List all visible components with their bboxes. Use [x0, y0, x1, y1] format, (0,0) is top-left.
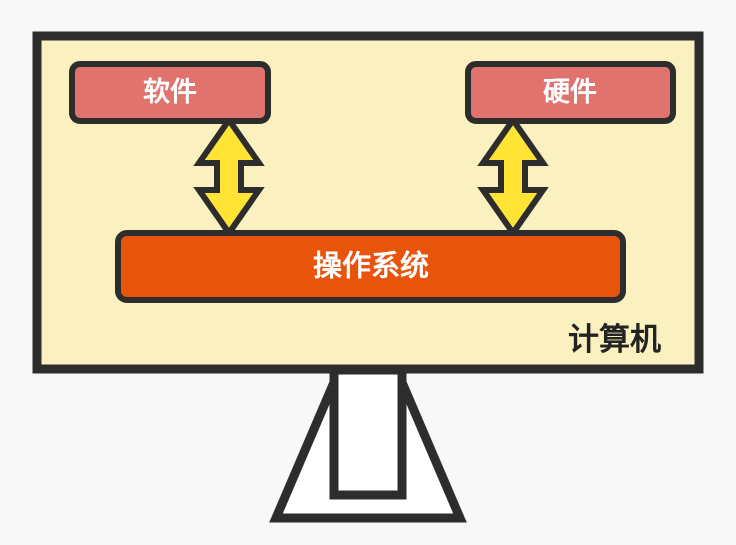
operating-system-label: 操作系统 — [313, 249, 429, 283]
node-software[interactable]: 软件 — [72, 64, 268, 121]
node-operating-system[interactable]: 操作系统 — [118, 233, 623, 300]
computer-caption: 计算机 — [568, 322, 661, 357]
software-label: 软件 — [143, 77, 197, 107]
diagram-canvas: 软件 硬件 操作系统 计算机 — [0, 0, 736, 545]
monitor-stand-neck — [334, 370, 402, 495]
monitor-stand — [276, 370, 460, 518]
computer-os-diagram: 软件 硬件 操作系统 计算机 — [0, 0, 736, 545]
hardware-label: 硬件 — [543, 77, 597, 107]
node-hardware[interactable]: 硬件 — [468, 64, 673, 121]
